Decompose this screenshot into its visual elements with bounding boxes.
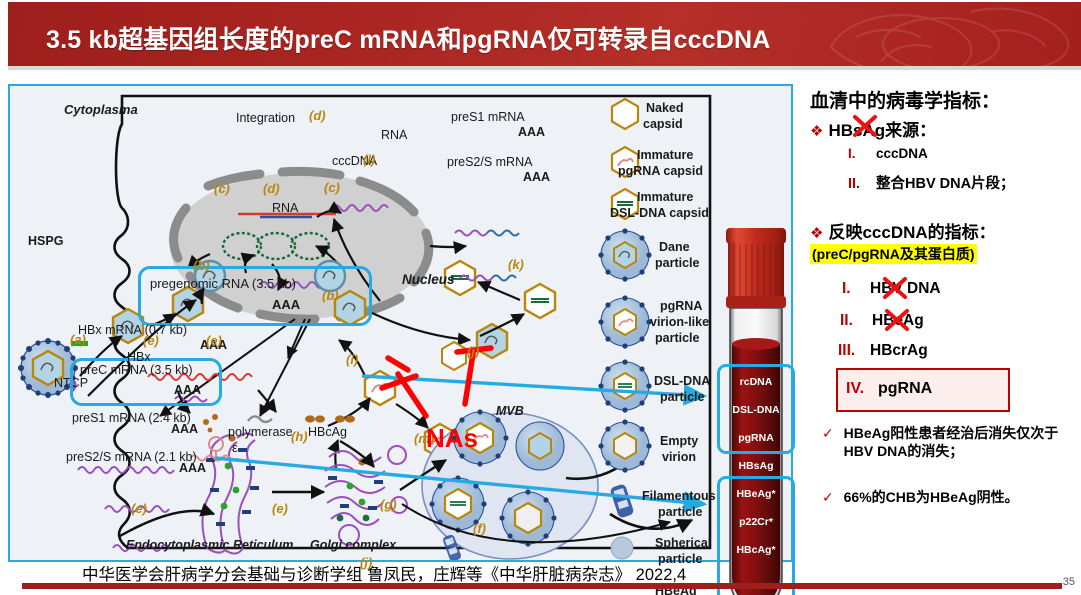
step-b: (b) [193,258,210,273]
sidebar-group2-item-0-text: HBV DNA [870,280,941,297]
step-l: (l) [363,152,375,167]
diamond-bullet-icon: ❖ [810,123,823,140]
step-j: (j) [467,344,479,359]
label-prec-tail: AAA [174,383,201,397]
sidebar-group2-item-3: IV.pgRNA [846,380,932,398]
step-g: (g) [380,497,397,512]
label-pres1-kb-tail: AAA [171,422,198,436]
step-i: (i) [346,352,358,367]
legend-2-l1: Immature [637,190,693,204]
sidebar-note-1-text: 66%的CHB为HBeAg阴性。 [838,488,1019,506]
label-hbx-protein: HBx [127,350,151,364]
footer-accent-bar [22,583,1062,589]
step-k: (k) [508,257,524,272]
legend-7-l1: Filamentous [642,489,716,503]
legend-4-l3: particle [655,331,699,345]
sidebar-group2-item-2: III.HBcrAg [838,342,928,360]
sidebar-group2-heading-text: 反映cccDNA的指标： [828,223,995,242]
label-pregenomic-rna: pregenomic RNA (3.5 kb) [150,276,296,291]
legend-7-l2: particle [658,505,702,519]
sidebar-title: 血清中的病毒学指标： [810,86,1000,113]
slide-header: 3.5 kb超基因组长度的preC mRNA和pgRNA仅可转录自cccDNA [8,2,1081,66]
legend-3-l2: particle [655,256,699,270]
legend-6-l1: Empty [660,434,698,448]
label-pres2s-mrna: preS2/S mRNA [447,155,532,169]
label-hspg: HSPG [28,234,63,248]
slide-root: 3.5 kb超基因组长度的preC mRNA和pgRNA仅可转录自cccDNA [0,0,1081,595]
step-d: (d) [263,181,280,196]
label-pres2s-mrna-kb: preS2/S mRNA (2.1 kb) [66,450,197,464]
legend-1-l2: pgRNA capsid [618,164,703,178]
sidebar-group1-heading-text: HBsAg来源： [828,121,936,140]
liver-watermark-icon [821,2,1081,66]
sidebar-group1-item-0-num: I. [848,146,876,161]
label-pres2s-tail: AAA [523,170,550,184]
step-e4: (e) [272,501,288,516]
source-citation: 中华医学会肝病学分会基础与诊断学组 鲁凤民，庄辉等《中华肝脏病杂志》 2022,… [82,561,686,585]
sidebar-group2-item-3-num: IV. [846,380,878,398]
tube-highlight-antigens [717,476,795,595]
sidebar-group1-item-1: II.整合HBV DNA片段； [848,172,1015,193]
legend-6-l2: virion [662,450,696,464]
diamond-bullet-icon-2: ❖ [810,225,823,242]
sidebar-note-1: ✓ 66%的CHB为HBeAg阴性。 [822,488,1072,506]
sidebar-group2-item-0-num: I. [842,280,870,298]
label-pregenomic-tail: AAA [272,297,300,312]
label-er: Endocytoplasmic Reticulum [126,538,293,552]
sidebar-group1-item-1-text: 整合HBV DNA片段； [876,176,1015,192]
step-c2: (c) [324,180,340,195]
legend-4-l2: virion-like [650,315,709,329]
label-nucleus: Nucleus [402,272,455,287]
check-icon-1: ✓ [822,489,834,505]
label-hbx-mrna: HBx mRNA (0.7 kb) [78,323,187,337]
label-polymerase: polymerase [228,425,293,439]
nas-annotation: NAs [426,423,478,454]
sidebar-group1-item-0: I.cccDNA [848,146,928,161]
label-golgi: Golgi complex [310,538,396,552]
label-rna-top: RNA [381,128,407,142]
label-pres1-mrna: preS1 mRNA [451,110,525,124]
sidebar-group1-heading: ❖HBsAg来源： [810,116,936,141]
sidebar-group1-item-1-num: II. [848,176,876,192]
sidebar-group2-item-3-text: pgRNA [878,380,932,397]
label-prec-mrna: preC mRNA (3.5 kb) [80,363,193,377]
legend-5-l2: particle [660,390,704,404]
step-b2: (b) [322,288,339,303]
legend-5-l1: DSL-DNA [654,374,710,388]
hbv-lifecycle-figure: Cytoplasma Nucleus Endocytoplasmic Retic… [8,84,793,562]
page-title: 3.5 kb超基因组长度的preC mRNA和pgRNA仅可转录自cccDNA [46,20,771,56]
legend-8-l1: Spherical [655,536,711,550]
tube-marker-hbsag: HBsAg [722,460,790,472]
tube-highlight-nucleic-acids [717,364,795,454]
sidebar-group2-item-2-text: HBcrAg [870,342,928,359]
sidebar-group2-highlight: (preC/pgRNA及其蛋白质) [810,244,977,264]
check-icon-0: ✓ [822,425,834,441]
label-pres2s-kb-tail: AAA [179,461,206,475]
step-e1: (e) [143,333,159,348]
blood-collection-tube: rcDNA DSL-DNA pgRNA HBsAg HBeAg* p22Cr* … [722,226,790,595]
label-pres1-tail: AAA [518,125,545,139]
step-d2: (d) [309,108,326,123]
sidebar-note-0: ✓ HBeAg阳性患者经治后消失仅次于HBV DNA的消失； [822,424,1068,461]
label-hbcag: HBcAg [308,425,347,439]
header-divider [8,66,1081,70]
legend-0-l1: Naked [646,101,684,115]
sidebar-group2-heading: ❖反映cccDNA的指标： [810,218,996,243]
label-mvb: MVB [496,404,524,418]
legend-1-l1: Immature [637,148,693,162]
step-a: (a) [70,332,86,347]
sidebar-note-0-text: HBeAg阳性患者经治后消失仅次于HBV DNA的消失； [838,424,1060,461]
label-cytoplasm: Cytoplasma [64,102,138,117]
legend-0-l2: capsid [643,117,683,131]
legend-3-l1: Dane [659,240,690,254]
step-e2: (e) [206,333,222,348]
sidebar-group2-item-1-num: II. [840,312,872,330]
legend-4-l1: pgRNA [660,299,702,313]
step-e3: (e) [131,501,147,516]
sidebar-group2-item-0: I.HBV DNA [842,280,941,298]
sidebar-group2-item-1-text: HBeAg [872,312,924,329]
step-f: (f) [473,521,486,536]
page-number: 35 [1063,576,1075,588]
step-h: (h) [291,429,308,444]
sidebar-panel: 血清中的病毒学指标： ❖HBsAg来源： I.cccDNA II.整合HBV D… [800,84,1081,564]
sidebar-group2-item-1: II.HBeAg [840,312,924,330]
label-rna-bottom: RNA [272,201,298,215]
label-integration: Integration [236,111,295,125]
sidebar-group2-item-2-num: III. [838,342,870,360]
step-c: (c) [214,181,230,196]
legend-2-l2: DSL-DNA capsid [610,206,709,220]
sidebar-group1-item-0-text: cccDNA [876,146,928,161]
label-epsilon: ε [232,440,238,455]
